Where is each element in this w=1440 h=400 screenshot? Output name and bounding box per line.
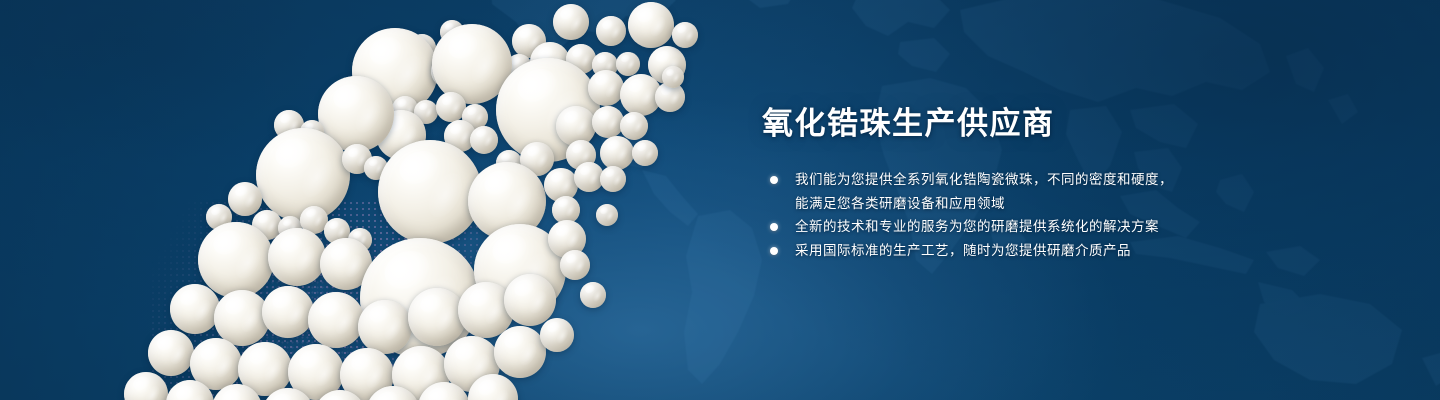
zirconia-beads-product-image bbox=[0, 0, 760, 400]
bullet-text-line-1: 采用国际标准的生产工艺，随时为您提供研磨介质产品 bbox=[795, 243, 1131, 258]
page-title: 氧化锆珠生产供应商 bbox=[762, 104, 1232, 144]
list-item: 我们能为您提供全系列氧化锆陶瓷微珠，不同的密度和硬度， 能满足您各类研磨设备和应… bbox=[762, 168, 1232, 215]
hero-banner: 氧化锆珠生产供应商 我们能为您提供全系列氧化锆陶瓷微珠，不同的密度和硬度， 能满… bbox=[0, 0, 1440, 400]
bullet-text-line-1: 我们能为您提供全系列氧化锆陶瓷微珠，不同的密度和硬度， bbox=[795, 172, 1173, 187]
list-item: 全新的技术和专业的服务为您的研磨提供系统化的解决方案 bbox=[762, 215, 1232, 239]
bullet-text-line-1: 全新的技术和专业的服务为您的研磨提供系统化的解决方案 bbox=[795, 219, 1159, 234]
banner-text-block: 氧化锆珠生产供应商 我们能为您提供全系列氧化锆陶瓷微珠，不同的密度和硬度， 能满… bbox=[762, 104, 1232, 262]
bullet-text-line-2: 能满足您各类研磨设备和应用领域 bbox=[795, 192, 1232, 216]
white-dot-icon bbox=[770, 176, 778, 184]
white-dot-icon bbox=[770, 223, 778, 231]
feature-bullet-list: 我们能为您提供全系列氧化锆陶瓷微珠，不同的密度和硬度， 能满足您各类研磨设备和应… bbox=[762, 168, 1232, 262]
white-dot-icon bbox=[770, 247, 778, 255]
list-item: 采用国际标准的生产工艺，随时为您提供研磨介质产品 bbox=[762, 239, 1232, 263]
